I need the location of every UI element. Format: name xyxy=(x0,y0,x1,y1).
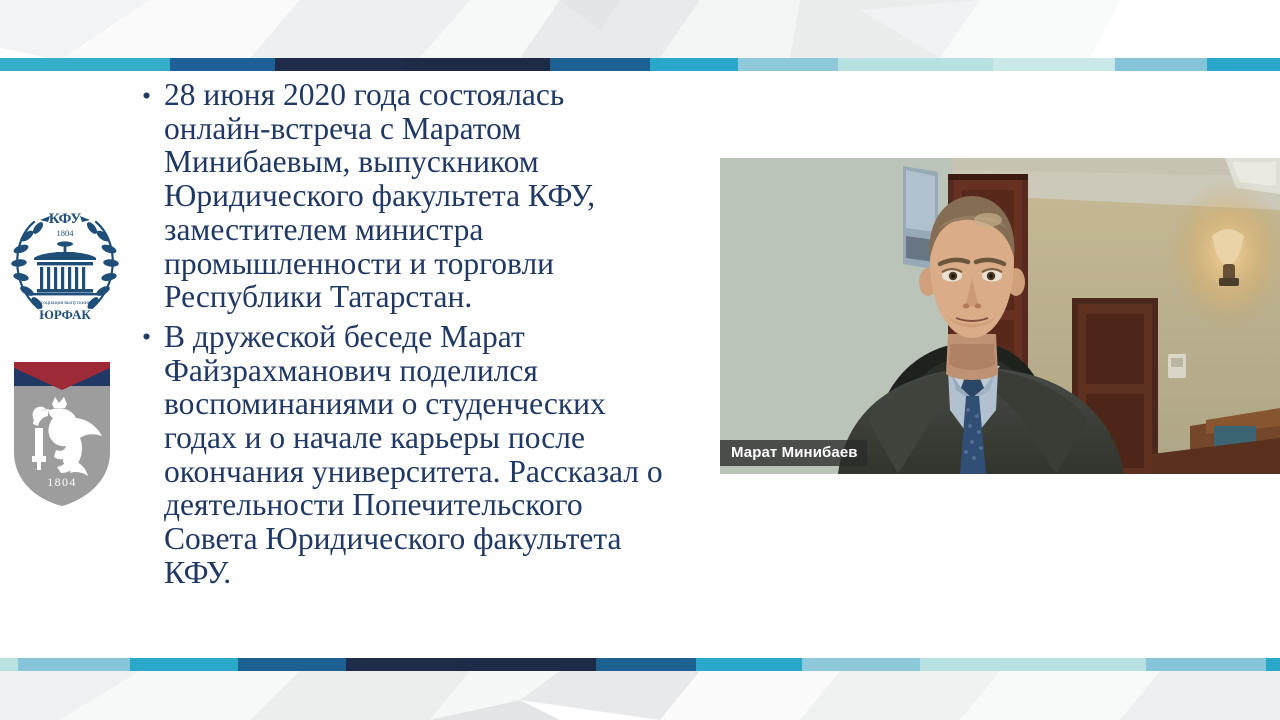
bar-segment xyxy=(1115,58,1207,71)
bullet-text: В дружеской беседе Марат Файзрахманович … xyxy=(164,319,663,590)
bar-segment xyxy=(238,658,346,671)
zoom-video-still[interactable]: Марат Минибаев xyxy=(720,158,1280,474)
list-item: • 28 июня 2020 года состоялась онлайн-вс… xyxy=(164,78,678,314)
bar-segment xyxy=(650,58,738,71)
bar-segment xyxy=(802,658,920,671)
bar-segment xyxy=(1146,658,1266,671)
bar-segment xyxy=(1266,658,1280,671)
emblem-bottom-text: ЮРФАК xyxy=(39,307,91,322)
bar-segment xyxy=(405,58,550,71)
bar-segment xyxy=(0,658,18,671)
bullet-marker: • xyxy=(142,79,151,113)
kfu-urfak-alumni-emblem: КФУ 1804 Ассоциация выпускников ЮРФАК xyxy=(4,192,126,326)
list-item: • В дружеской беседе Марат Файзрахманови… xyxy=(164,320,678,590)
bar-segment xyxy=(275,58,405,71)
presentation-slide: КФУ 1804 Ассоциация выпускников ЮРФАК xyxy=(0,0,1280,720)
bar-segment xyxy=(456,658,596,671)
bar-segment xyxy=(550,58,650,71)
emblem-top-text: КФУ xyxy=(49,211,82,227)
top-decorative-bar xyxy=(0,58,1280,71)
participant-name-label: Марат Минибаев xyxy=(720,440,867,466)
kfu-shield-logo: 1804 xyxy=(8,356,116,508)
emblem-year: 1804 xyxy=(57,228,75,238)
bullet-list: • 28 июня 2020 года состоялась онлайн-вс… xyxy=(138,78,678,590)
bar-segment xyxy=(738,58,838,71)
bar-segment xyxy=(346,658,456,671)
slide-body-text: • 28 июня 2020 года состоялась онлайн-вс… xyxy=(138,78,678,596)
bar-segment xyxy=(18,658,130,671)
emblem-arc-text: Ассоциация выпускников xyxy=(34,300,96,306)
bar-segment xyxy=(130,658,238,671)
bullet-text: 28 июня 2020 года состоялась онлайн-встр… xyxy=(164,77,595,314)
bottom-decorative-bar xyxy=(0,658,1280,671)
bullet-marker: • xyxy=(142,320,151,354)
bar-segment xyxy=(0,58,170,71)
bar-segment xyxy=(838,58,993,71)
bar-segment xyxy=(170,58,275,71)
video-frame-image xyxy=(720,158,1280,474)
bar-segment xyxy=(993,58,1115,71)
shield-year: 1804 xyxy=(47,475,77,489)
bar-segment xyxy=(596,658,696,671)
bar-segment xyxy=(696,658,802,671)
bar-segment xyxy=(920,658,1146,671)
bar-segment xyxy=(1207,58,1280,71)
